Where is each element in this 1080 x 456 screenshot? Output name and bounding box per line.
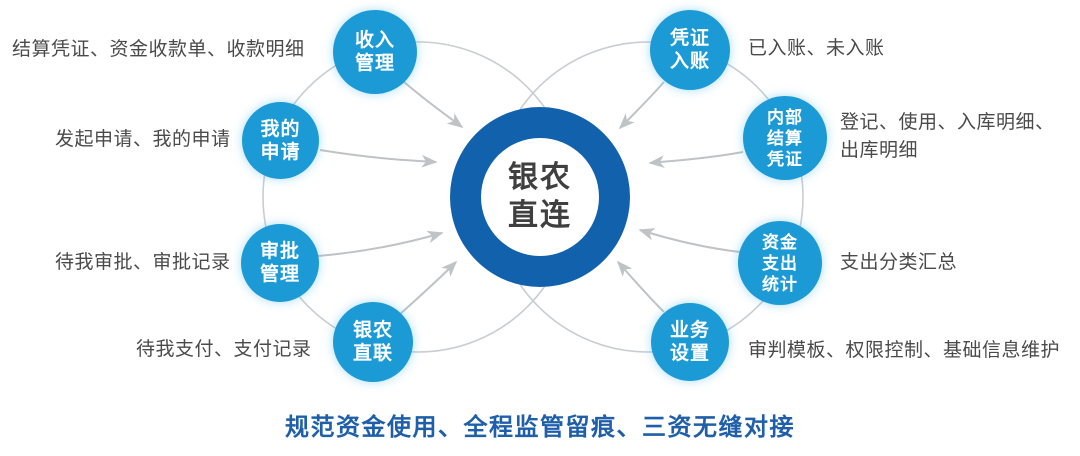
arrow-bank-farm-direct xyxy=(398,262,456,316)
node-business-settings[interactable]: 业务 设置 xyxy=(651,303,729,381)
hub-inner: 银农 直连 xyxy=(481,138,599,256)
node-label-line: 审批 xyxy=(260,240,300,263)
arrow-approval-management xyxy=(318,233,442,256)
node-income-management[interactable]: 收入 管理 xyxy=(333,10,417,94)
node-label-line: 业务 xyxy=(670,319,710,342)
arrow-my-application xyxy=(320,150,436,162)
diagram-canvas: 银农 直连 收入 管理 我的 申请 审批 管理 银农 直联 凭证 入账 内部 结… xyxy=(0,0,1080,456)
node-bank-farm-direct[interactable]: 银农 直联 xyxy=(333,302,413,382)
arrow-business-settings xyxy=(618,262,664,312)
desc-my-application: 发起申请、我的申请 xyxy=(55,126,231,154)
node-label-line: 资金 xyxy=(762,232,798,253)
node-fund-expenditure-statistics[interactable]: 资金 支出 统计 xyxy=(738,221,822,305)
node-approval-management[interactable]: 审批 管理 xyxy=(241,224,319,302)
hub-label-line1: 银农 xyxy=(508,159,572,197)
arrow-voucher-entry xyxy=(620,82,664,128)
node-my-application[interactable]: 我的 申请 xyxy=(242,102,319,179)
desc-internal-settlement-voucher: 登记、使用、入库明细、 出库明细 xyxy=(840,109,1055,165)
node-label-line: 直联 xyxy=(353,342,393,365)
hub-node[interactable]: 银农 直连 xyxy=(450,107,630,287)
desc-approval-management: 待我审批、审批记录 xyxy=(55,249,231,277)
desc-voucher-entry: 已入账、未入账 xyxy=(748,35,885,63)
node-label-line: 我的 xyxy=(260,118,300,141)
node-label-line: 管理 xyxy=(260,263,300,286)
node-label-line: 内部 xyxy=(767,107,803,128)
node-label-line: 入账 xyxy=(670,50,710,73)
node-label-line: 申请 xyxy=(260,141,300,164)
node-label-line: 凭证 xyxy=(670,27,710,50)
hub-label-line2: 直连 xyxy=(508,197,572,235)
desc-bank-farm-direct: 待我支付、支付记录 xyxy=(136,336,312,364)
desc-business-settings: 审判模板、权限控制、基础信息维护 xyxy=(748,337,1060,365)
node-label-line: 凭证 xyxy=(767,149,803,170)
node-label-line: 管理 xyxy=(355,52,395,75)
desc-fund-expenditure-statistics: 支出分类汇总 xyxy=(840,249,957,277)
node-label-line: 收入 xyxy=(355,29,395,52)
node-voucher-entry[interactable]: 凭证 入账 xyxy=(650,10,730,90)
node-label-line: 统计 xyxy=(762,274,798,295)
arrow-internal-settlement-voucher xyxy=(650,152,743,163)
desc-income-management: 结算凭证、资金收款单、收款明细 xyxy=(12,36,305,64)
tagline: 规范资金使用、全程监管留痕、三资无缝对接 xyxy=(0,407,1080,442)
node-label-line: 设置 xyxy=(670,342,710,365)
arrow-fund-expenditure-statistics xyxy=(640,230,740,252)
node-label-line: 银农 xyxy=(353,319,393,342)
node-label-line: 结算 xyxy=(767,128,803,149)
node-label-line: 支出 xyxy=(762,253,798,274)
node-internal-settlement-voucher[interactable]: 内部 结算 凭证 xyxy=(743,96,827,180)
arrow-income-management xyxy=(404,82,462,127)
